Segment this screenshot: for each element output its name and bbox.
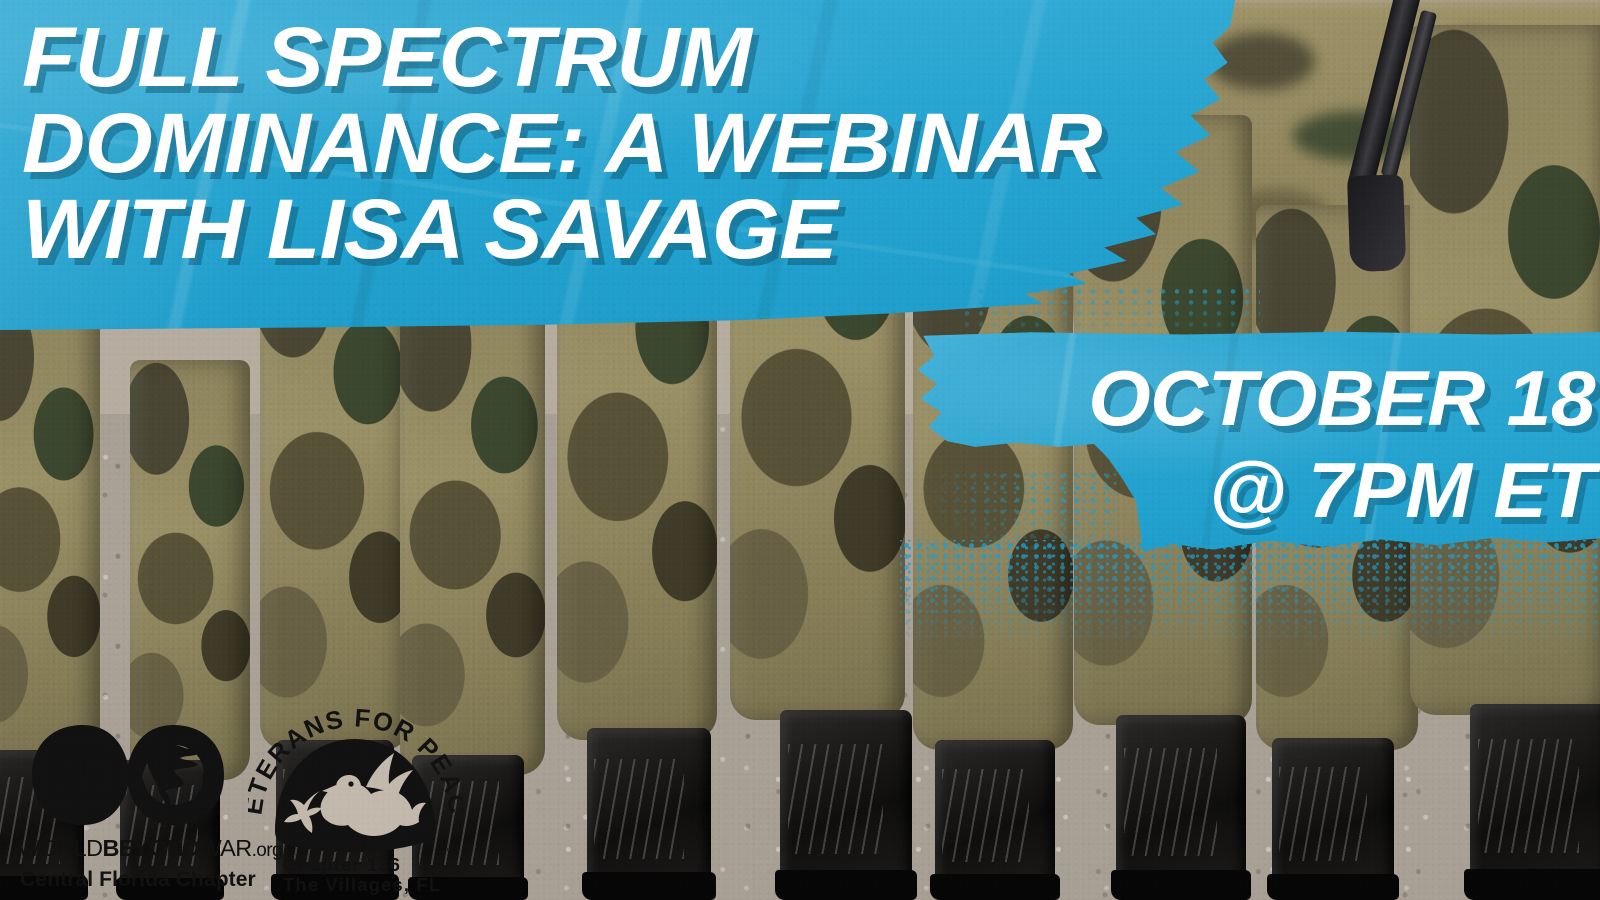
wbw-chapter-label: Central Florida Chapter [18,868,258,892]
headline-line-3: WITH LISA SAVAGE [22,186,1249,272]
vfp-chapter-line-1: Chapter 136 [283,854,401,875]
event-poster: FULL SPECTRUM DOMINANCE: A WEBINAR WITH … [0,0,1600,900]
event-datetime: OCTOBER 18 @ 7PM ET [955,352,1595,536]
infinity-globes-icon [28,719,228,831]
world-beyond-war-logo: WORLDBEYONDWAR.org Central Florida Chapt… [18,719,258,892]
vfp-trademark: ™ [445,846,454,856]
helmet-dove-icon: VETERANS FOR PEACE [248,691,463,896]
date-banner-bottom-speckle [900,540,1600,650]
world-beyond-war-wordmark: WORLDBEYONDWAR.org [18,835,258,862]
veterans-for-peace-logo: VETERANS FOR PEACE [248,691,463,896]
headline-line-1: FULL SPECTRUM [22,14,1249,100]
dove-eye [348,781,353,786]
vfp-chapter-line-2: The Villages, FL [283,874,441,895]
page-title: FULL SPECTRUM DOMINANCE: A WEBINAR WITH … [22,14,1202,272]
sponsor-logos: WORLDBEYONDWAR.org Central Florida Chapt… [0,670,470,900]
wbw-word-beyond: BEYOND [102,835,199,861]
wbw-word-war: WAR [199,835,251,861]
event-time: @ 7PM ET [936,444,1595,536]
wbw-word-world: WORLD [18,835,102,861]
headline-line-2: DOMINANCE: A WEBINAR [22,100,1249,186]
event-date: OCTOBER 18 [936,352,1595,444]
